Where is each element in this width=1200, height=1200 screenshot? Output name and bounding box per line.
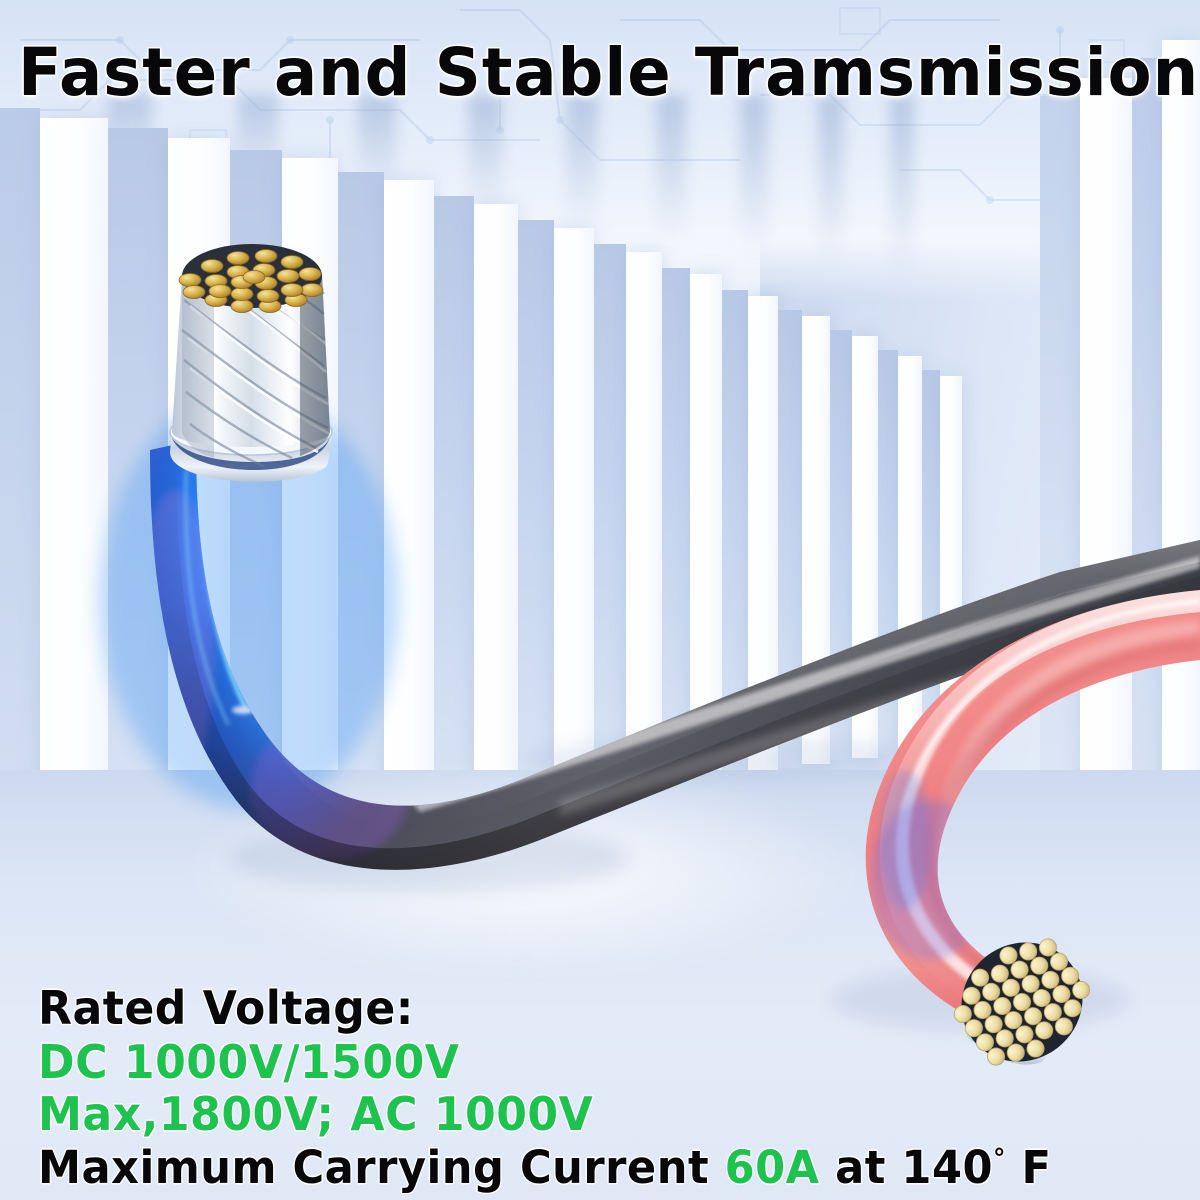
product-marketing-image: Faster and Stable Tramsmission Rated Vol… xyxy=(0,0,1200,1200)
page-title: Faster and Stable Tramsmission xyxy=(18,34,1182,111)
max-current-value: 60A xyxy=(725,1141,820,1194)
temperature-unit: F xyxy=(1022,1141,1052,1194)
max-current-label: Maximum Carrying Current xyxy=(38,1141,709,1194)
max-ac-rating-value: Max,1800V; AC 1000V xyxy=(38,1091,1123,1137)
specifications-block: Rated Voltage: DC 1000V/1500V Max,1800V;… xyxy=(38,985,1168,1190)
dc-rating-value: DC 1000V/1500V xyxy=(38,1039,1123,1085)
max-current-at-word: at xyxy=(835,1141,886,1194)
degree-symbol: ° xyxy=(993,1144,1006,1174)
max-current-line: Maximum Carrying Current 60A at 140° F xyxy=(38,1145,1123,1190)
temperature-value: 140 xyxy=(901,1141,993,1194)
black-cable xyxy=(100,244,1200,870)
rated-voltage-label: Rated Voltage: xyxy=(38,985,1123,1031)
